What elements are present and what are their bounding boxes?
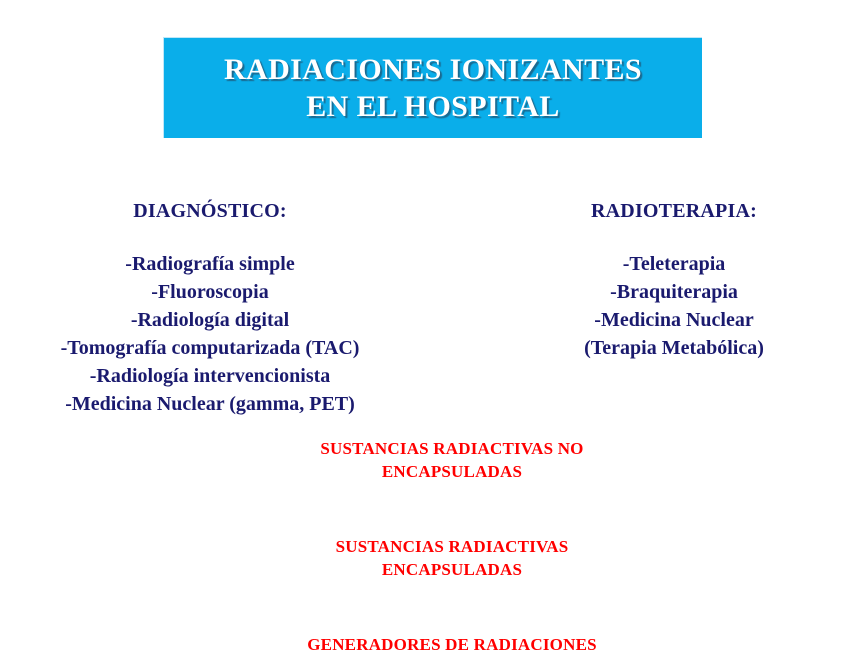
list-item: -Radiología intervencionista — [0, 362, 420, 390]
column-radioterapia: RADIOTERAPIA: -Teleterapia -Braquiterapi… — [500, 198, 848, 362]
list-item: -Radiografía simple — [0, 250, 420, 278]
list-item: -Radiología digital — [0, 306, 420, 334]
callout-sustancias-encapsuladas: SUSTANCIAS RADIACTIVAS ENCAPSULADAS — [232, 535, 672, 581]
callout-line: ENCAPSULADAS — [232, 460, 672, 483]
slide-title-line-2: EN EL HOSPITAL — [306, 88, 559, 125]
list-item: (Terapia Metabólica) — [500, 334, 848, 362]
list-item: -Medicina Nuclear (gamma, PET) — [0, 390, 420, 418]
list-item: -Braquiterapia — [500, 278, 848, 306]
callout-line: SUSTANCIAS RADIACTIVAS — [232, 535, 672, 558]
callout-group: SUSTANCIAS RADIACTIVAS NO ENCAPSULADAS S… — [232, 437, 672, 656]
list-diagnostico: -Radiografía simple -Fluoroscopia -Radio… — [0, 250, 420, 418]
column-diagnostico: DIAGNÓSTICO: -Radiografía simple -Fluoro… — [0, 198, 420, 418]
callout-line: ENCAPSULADAS — [232, 558, 672, 581]
callout-line: GENERADORES DE RADIACIONES — [232, 633, 672, 656]
list-item: -Teleterapia — [500, 250, 848, 278]
column-heading-diagnostico: DIAGNÓSTICO: — [0, 198, 420, 224]
slide-title-banner: RADIACIONES IONIZANTES EN EL HOSPITAL — [163, 37, 702, 138]
list-radioterapia: -Teleterapia -Braquiterapia -Medicina Nu… — [500, 250, 848, 362]
callout-sustancias-no-encapsuladas: SUSTANCIAS RADIACTIVAS NO ENCAPSULADAS — [232, 437, 672, 483]
list-item: -Medicina Nuclear — [500, 306, 848, 334]
slide-canvas: RADIACIONES IONIZANTES EN EL HOSPITAL DI… — [0, 0, 848, 636]
callout-generadores-de-radiaciones: GENERADORES DE RADIACIONES — [232, 633, 672, 656]
list-item: -Fluoroscopia — [0, 278, 420, 306]
slide-title-line-1: RADIACIONES IONIZANTES — [224, 51, 642, 88]
column-heading-radioterapia: RADIOTERAPIA: — [500, 198, 848, 224]
list-item: -Tomografía computarizada (TAC) — [0, 334, 420, 362]
callout-line: SUSTANCIAS RADIACTIVAS NO — [232, 437, 672, 460]
